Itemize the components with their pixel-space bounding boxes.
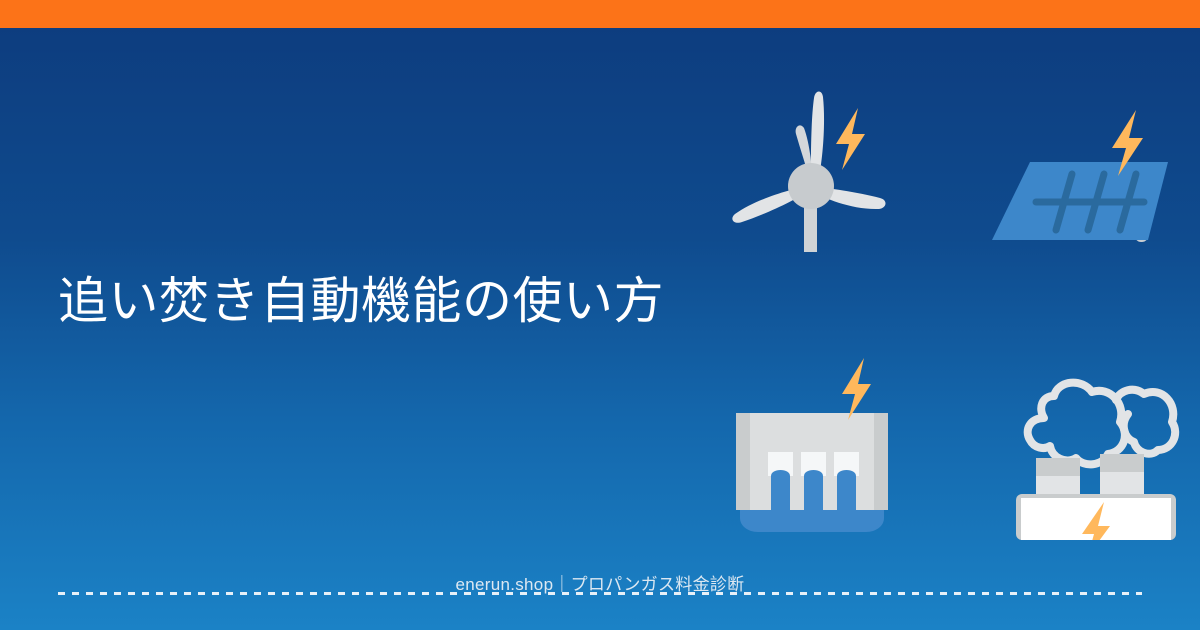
hydro-dam-icon [718,356,904,536]
solar-panel-icon [984,108,1174,254]
power-plant-icon [1008,338,1184,540]
og-image-canvas: 追い焚き自動機能の使い方 [0,0,1200,630]
wind-turbine-icon [718,86,904,252]
footer: enerun.shop｜プロパンガス料金診断 [0,568,1200,602]
footer-dashed-rule [58,592,1142,595]
page-title: 追い焚き自動機能の使い方 [58,272,718,330]
top-accent-bar [0,0,1200,28]
